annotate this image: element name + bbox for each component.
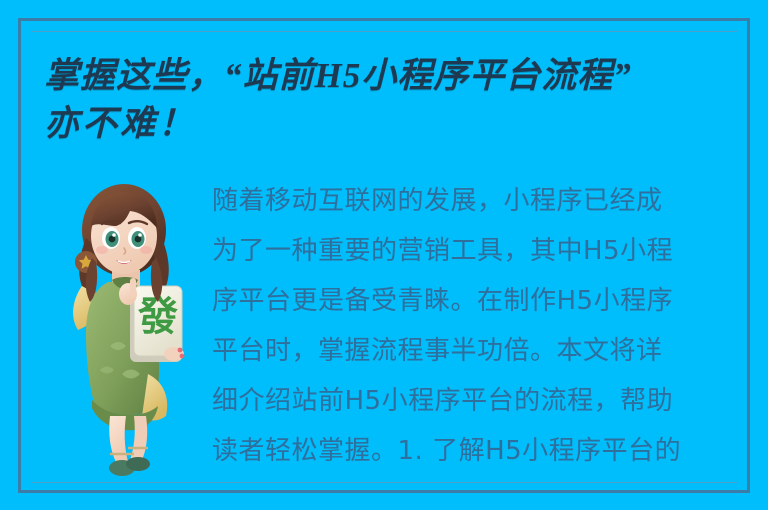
body-line: 序平台更是备受青睐。在制作H5小程序	[212, 276, 734, 326]
body-line: 平台时，掌握流程事半功倍。本文将详	[212, 326, 734, 376]
character-illustration: 發	[52, 178, 208, 483]
body-line: 为了一种重要的营销工具，其中H5小程	[212, 226, 734, 276]
article-body: 随着移动互联网的发展，小程序已经成 为了一种重要的营销工具，其中H5小程 序平台…	[212, 176, 734, 476]
title-line-2: 亦不难！	[44, 100, 734, 148]
hand	[164, 347, 184, 361]
poster-canvas: 掌握这些，“站前H5小程序平台流程” 亦不难！ 随着移动互联网的发展，小程序已经…	[0, 0, 768, 510]
body-line: 读者轻松掌握。1. 了解H5小程序平台的	[212, 426, 734, 476]
body-line: 随着移动互联网的发展，小程序已经成	[212, 176, 734, 226]
page-title: 掌握这些，“站前H5小程序平台流程” 亦不难！	[44, 52, 734, 148]
body-line: 细介绍站前H5小程序平台的流程，帮助	[212, 376, 734, 426]
title-line-1: 掌握这些，“站前H5小程序平台流程”	[44, 52, 734, 100]
head	[91, 192, 157, 274]
